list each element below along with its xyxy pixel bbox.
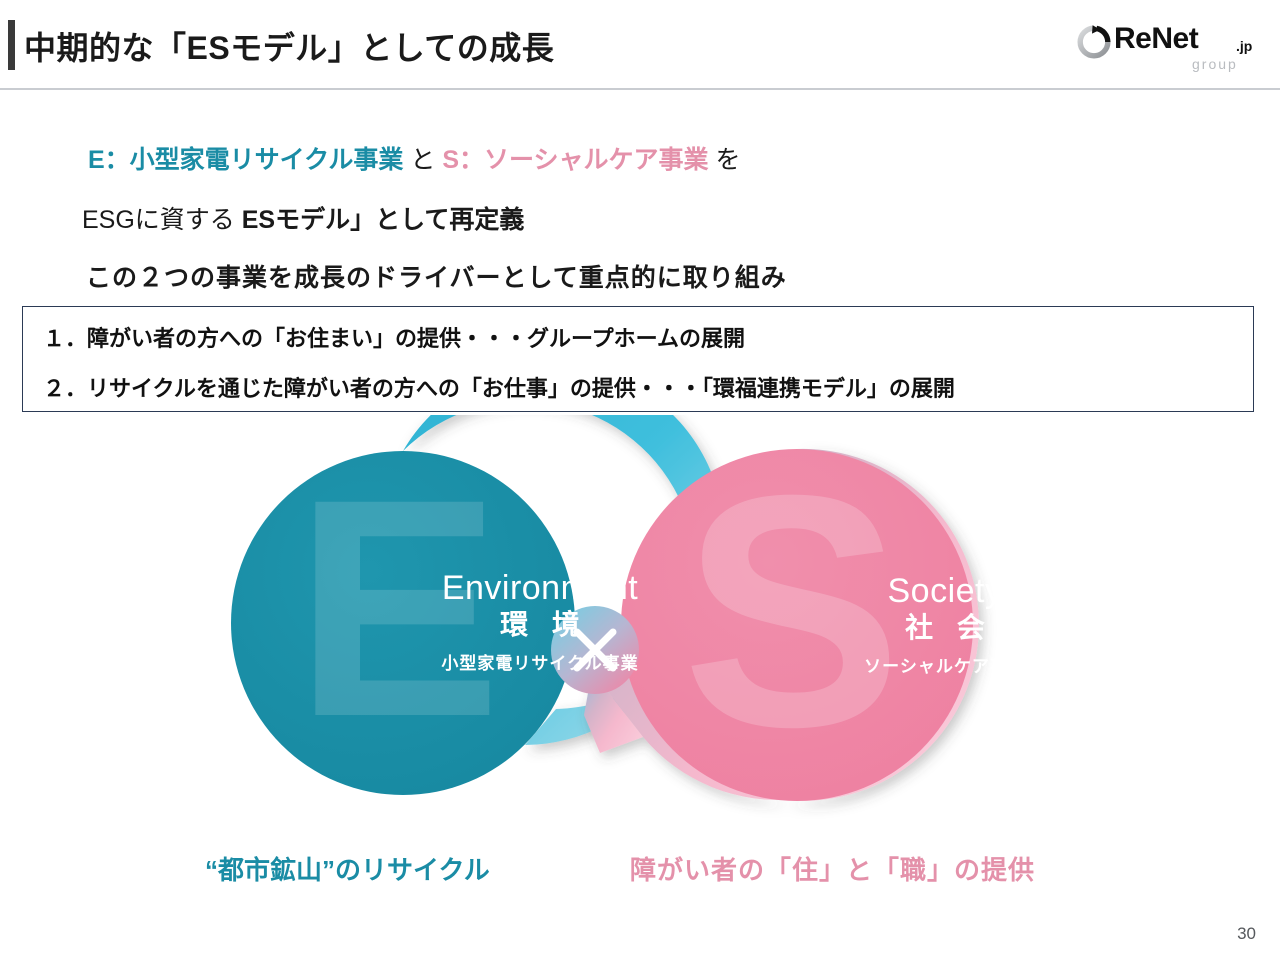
logo-tld: .jp — [1236, 38, 1252, 54]
lead-s-label: S：ソーシャルケア事業 — [442, 146, 708, 174]
environment-en-label: Environment — [375, 570, 705, 607]
environment-labels: Environment 環 境 小型家電リサイクル事業 — [375, 570, 705, 674]
lead-conjunction: と — [410, 146, 442, 174]
environment-sub-label: 小型家電リサイクル事業 — [375, 649, 705, 674]
society-jp-label: 社 会 — [780, 610, 1110, 646]
lead-line-3: この２つの事業を成長のドライバーとして重点的に取り組み — [86, 258, 787, 294]
society-sub-label: ソーシャルケア事業 — [780, 652, 1110, 677]
society-labels: Society 社 会 ソーシャルケア事業 — [780, 573, 1110, 677]
society-en-label: Society — [780, 573, 1110, 610]
lead-line-2: ESGに資する ESモデル」として再定義 — [82, 200, 524, 236]
key-initiatives-box: １．障がい者の方への「お住まい」の提供・・・グループホームの展開 ２．リサイクル… — [22, 306, 1254, 412]
lead-line-1: E：小型家電リサイクル事業 と S：ソーシャルケア事業 を — [88, 140, 741, 176]
environment-jp-label: 環 境 — [375, 607, 705, 643]
lead-esg-prefix: ESGに資する — [82, 206, 235, 234]
title-accent-bar — [8, 20, 15, 70]
slide-header: 中期的な「ESモデル」としての成長 ReNet .jp group — [0, 0, 1280, 89]
renet-group-logo: ReNet .jp group — [1076, 22, 1256, 74]
list-item: ２．リサイクルを通じた障がい者の方への「お仕事」の提供・・・「環福連携モデル」の… — [43, 371, 955, 403]
environment-caption: “都市鉱山”のリサイクル — [205, 850, 490, 887]
lead-e-label: E：小型家電リサイクル事業 — [88, 146, 403, 174]
logo-wordmark: ReNet — [1114, 22, 1198, 56]
header-divider — [0, 88, 1280, 90]
es-model-diagram: E S Environment 環 境 小型家電リサイクル事業 Society … — [180, 415, 1040, 845]
page-title: 中期的な「ESモデル」としての成長 — [24, 23, 554, 69]
lead-es-model: ESモデル」として再定義 — [242, 206, 525, 234]
list-item: １．障がい者の方への「お住まい」の提供・・・グループホームの展開 — [43, 321, 745, 353]
recycle-arrow-icon — [1076, 24, 1112, 60]
logo-group-label: group — [1192, 56, 1238, 72]
page-number: 30 — [1237, 924, 1256, 944]
lead-line1-tail: を — [715, 146, 740, 174]
society-caption: 障がい者の「住」と「職」の提供 — [630, 850, 1035, 887]
